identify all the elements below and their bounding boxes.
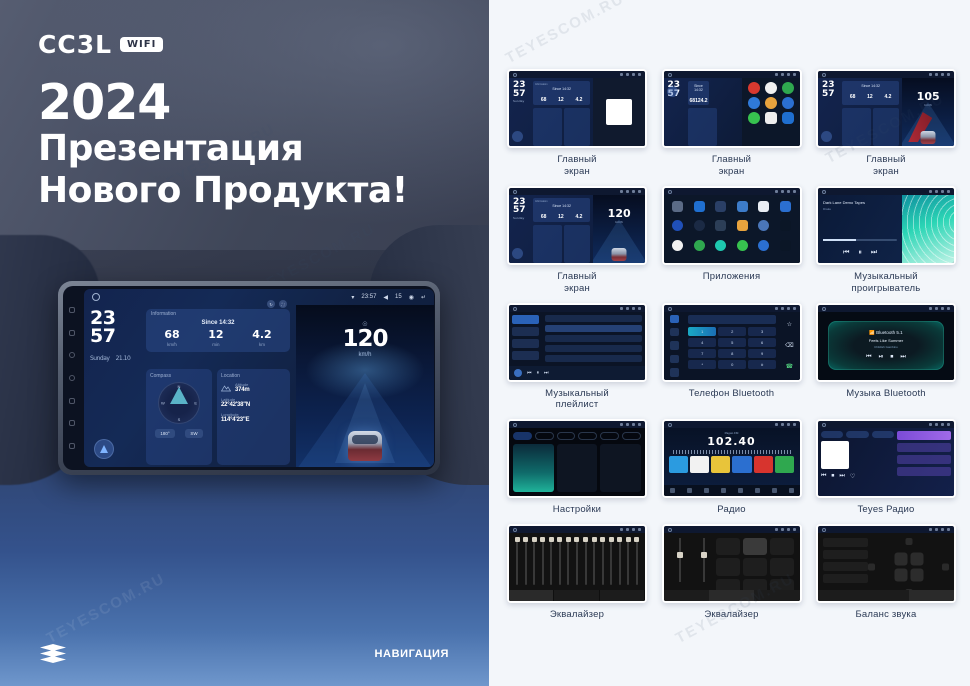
compass-needle-icon <box>170 387 188 404</box>
gallery-row: Настройки Радио FM 102.40 <box>503 419 960 516</box>
thumb-info-since: Since 14:32 <box>690 84 708 92</box>
speed-value: 120 <box>296 328 434 351</box>
thumb-clock-minutes: 57 <box>822 89 835 99</box>
playlist-mini-player[interactable]: ⏮ ⏸ ⏭ <box>509 366 645 380</box>
radio-presets[interactable] <box>667 456 797 473</box>
preset-buttons[interactable] <box>716 538 794 596</box>
app-icon-play-store[interactable] <box>737 240 748 251</box>
location-title: Location <box>221 373 286 379</box>
headline-line-2: Нового Продукта! <box>38 170 408 212</box>
call-icon[interactable]: ☎ <box>786 363 793 370</box>
gallery-item[interactable]: 1 2 3 4 5 6 7 8 9 * <box>658 303 806 412</box>
radio-frequency: 102.40 <box>667 435 797 448</box>
gear-icon[interactable]: ◉ <box>409 294 414 301</box>
stat-value: 68 <box>164 329 179 340</box>
radio-dial[interactable] <box>673 450 791 454</box>
stop-icon[interactable]: ⏹ <box>890 354 893 361</box>
compass-south: S <box>178 417 181 422</box>
app-icon-camera[interactable] <box>758 201 769 212</box>
compass-dial: N E S W <box>158 382 200 424</box>
dial-key[interactable]: 8 <box>718 349 746 358</box>
radio-toolbar[interactable] <box>664 485 800 496</box>
thumb-stat: 4.2 <box>575 97 582 103</box>
next-icon[interactable]: ⏭ <box>871 249 877 257</box>
phone-nav[interactable] <box>664 312 686 380</box>
gallery-caption: Музыкальный <box>854 271 918 282</box>
app-icon-google[interactable] <box>672 240 683 251</box>
navigation-fab-button[interactable] <box>94 439 114 459</box>
headline: 2024 Презентация Нового Продукта! <box>38 78 408 211</box>
gallery-item[interactable]: Эквалайзер <box>503 524 651 621</box>
information-stats: 68 km/h 12 min 4.2 km <box>150 329 286 347</box>
gallery-caption: Музыкальный <box>545 388 609 399</box>
stat-unit: km <box>252 342 272 347</box>
album-art <box>514 369 522 377</box>
app-icon-browser[interactable] <box>765 82 777 94</box>
power-icon[interactable] <box>69 352 75 358</box>
thumb-clock-minutes: 57 <box>513 205 526 215</box>
volume-down-icon[interactable] <box>69 420 75 426</box>
album-visualizer <box>902 195 954 263</box>
volume-icon: ◀ <box>383 294 388 301</box>
hero-panel: TEYESCOM.RU TEYESCOM.RU TEYESCOM.RU CC3L… <box>0 0 489 686</box>
driving-view-widget[interactable]: ☉ 120 km/h <box>296 305 434 467</box>
app-icon-folder[interactable] <box>737 220 748 231</box>
status-time: 23:57 <box>361 294 376 300</box>
gallery-item[interactable]: Приложения <box>658 186 806 295</box>
head-unit-screen[interactable]: ▾ 23:57 ◀ 15 ◉ ↵ 23 57 Sunday 21.10 I <box>84 289 434 467</box>
track-title: Dark Lane Demo Tapes <box>823 200 897 205</box>
wifi-badge: WIFI <box>120 37 163 52</box>
preset-5[interactable] <box>754 456 773 473</box>
compass-north: N <box>178 384 181 389</box>
traffic-card[interactable] <box>557 444 598 492</box>
gallery-item[interactable]: 2357Sunday InformationSince 14:3268124.2… <box>503 186 651 295</box>
gallery-item[interactable]: ⏮ ⏹ ⏭ ♡ Teyes Радио <box>812 419 960 516</box>
gallery-caption: Приложения <box>703 271 761 282</box>
playback-controls[interactable]: ⏮ ⏸ ⏭ <box>818 249 902 257</box>
expand-icon[interactable]: ⛶ <box>279 300 287 308</box>
previous-icon[interactable]: ⏮ <box>527 370 532 376</box>
thumb-info-since: Since 14:32 <box>535 204 588 208</box>
dial-key[interactable]: 2 <box>718 327 746 336</box>
gallery-caption: Настройки <box>553 504 601 515</box>
gallery-caption-2: экран <box>719 166 745 177</box>
gallery-item[interactable]: Эквалайзер <box>658 524 806 621</box>
pause-icon[interactable]: ⏸ <box>537 370 540 376</box>
gallery-caption: Эквалайзер <box>704 609 758 620</box>
thumb-speed-value: 120 <box>608 207 631 220</box>
thumb-info-since: Since 14:32 <box>535 87 588 91</box>
dial-key[interactable]: 5 <box>718 338 746 347</box>
stat-unit: km/h <box>164 342 179 347</box>
gallery-caption-2: экран <box>873 166 899 177</box>
gallery-row: ⏮ ⏸ ⏭ Музыкальныйплейлист <box>503 303 960 412</box>
gallery-caption: Баланс звука <box>856 609 917 620</box>
thumbnail-equalizer-presets[interactable] <box>662 524 802 603</box>
thumbnail-radio[interactable]: Радио FM 102.40 <box>662 419 802 498</box>
next-icon[interactable]: ⏭ <box>900 354 905 361</box>
preset-2[interactable] <box>690 456 709 473</box>
gallery-caption: Главный <box>557 271 596 282</box>
thumb-stat: 68 <box>541 97 547 103</box>
fader-sliders[interactable] <box>669 538 717 596</box>
app-icon-chrome[interactable] <box>672 220 683 231</box>
back-arrow-icon[interactable]: ↵ <box>421 294 426 301</box>
compass-direction: SW <box>185 429 202 438</box>
stop-icon[interactable]: ⏹ <box>831 473 834 480</box>
app-icon-clock[interactable] <box>694 220 705 231</box>
dial-key[interactable]: 4 <box>688 338 716 347</box>
speed-unit: km/h <box>296 352 434 358</box>
thumb-stat: 68 <box>850 94 856 100</box>
gallery-caption: Радио <box>717 504 745 515</box>
location-widget[interactable]: Location Altitude 374m Latitude <box>217 369 290 465</box>
location-latitude-row: Latitude 22°42'38"N <box>221 397 286 408</box>
preset-1[interactable] <box>669 456 688 473</box>
mountain-icon <box>221 384 231 392</box>
dial-key[interactable]: 9 <box>748 349 776 358</box>
stat-value: 4.2 <box>252 329 272 340</box>
app-icon-music[interactable] <box>715 201 726 212</box>
gallery-item[interactable]: 2357Sunday InformationSince 14:3268124.2… <box>503 69 651 178</box>
balance-presets[interactable] <box>823 538 868 596</box>
stat-distance: 4.2 km <box>252 329 272 347</box>
clock-date: 21.10 <box>116 355 131 362</box>
gallery-row: 2357Sunday InformationSince 14:3268124.2… <box>503 69 960 178</box>
app-icon-files[interactable] <box>672 201 683 212</box>
previous-icon[interactable]: ⏮ <box>821 473 826 480</box>
layers-icon <box>40 644 66 664</box>
car-avatar-icon <box>612 248 627 261</box>
thumb-stat: 68 <box>541 214 547 220</box>
home-icon[interactable] <box>69 375 75 381</box>
thumb-clock-minutes: 57 <box>513 89 526 99</box>
gallery-item[interactable]: Баланс звука <box>812 524 960 621</box>
location-altitude-row: Altitude 374m <box>221 382 286 393</box>
pause-icon[interactable]: ⏸ <box>858 249 862 257</box>
status-bar: ▾ 23:57 ◀ 15 ◉ ↵ <box>343 289 434 305</box>
watermark: TEYESCOM.RU <box>503 0 628 67</box>
dial-input[interactable] <box>688 315 776 324</box>
thumb-stat: 12 <box>558 214 564 220</box>
hero-footer: НАВИГАЦИЯ <box>0 622 489 686</box>
location-latitude-value: 22°42'38"N <box>221 402 286 408</box>
information-since: Since 14:32 <box>150 320 286 326</box>
dial-key[interactable]: 3 <box>748 327 776 336</box>
location-longitude-value: 114°4'23"E <box>221 417 286 423</box>
thumbnail-apps[interactable] <box>662 186 802 265</box>
thumbnail-home-drive[interactable]: 2357 Since 14:3268124.2 105km/h <box>816 69 956 148</box>
equalizer-tabs[interactable] <box>664 590 800 601</box>
settings-cards[interactable] <box>513 444 641 492</box>
thumbnail-home-apps[interactable]: 2357 Since 14:3268124.2 <box>662 69 802 148</box>
previous-icon[interactable]: ⏮ <box>843 249 849 257</box>
speed-readout: ☉ 120 km/h <box>296 321 434 358</box>
track-artist: Drake <box>823 207 897 211</box>
gallery-caption: Телефон Bluetooth <box>689 388 775 399</box>
location-altitude-value: 374m <box>235 387 250 393</box>
information-title: Information <box>151 311 286 317</box>
bluetooth-icon: 📶 <box>869 330 875 335</box>
preset-6[interactable] <box>775 456 794 473</box>
app-icon-contacts[interactable] <box>780 201 791 212</box>
thumb-stat: 4.2 <box>884 94 891 100</box>
playback-controls[interactable]: ⏮ ⏯ ⏹ ⏭ <box>866 354 906 361</box>
thumbnail-home-speed[interactable]: 2357Sunday InformationSince 14:3268124.2… <box>507 186 647 265</box>
app-icon-back[interactable] <box>780 220 791 231</box>
app-icon-calculator[interactable] <box>737 201 748 212</box>
seat-grid[interactable] <box>894 553 923 582</box>
gallery-caption-2: плейлист <box>556 399 599 410</box>
play-pause-icon[interactable]: ⏯ <box>879 354 884 361</box>
app-icon-play[interactable] <box>748 112 760 124</box>
thumbnail-playlist[interactable]: ⏮ ⏸ ⏭ <box>507 303 647 382</box>
balance-tabs[interactable] <box>818 590 954 601</box>
thumbnail-teyes-radio[interactable]: ⏮ ⏹ ⏭ ♡ <box>816 419 956 498</box>
phone-actions[interactable]: ☆ ⌫ ☎ <box>779 312 799 380</box>
heart-icon[interactable]: ♡ <box>850 473 855 480</box>
bluetooth-version: 📶 Bluetooth 5.1 <box>869 330 902 336</box>
app-icon-mail[interactable] <box>782 97 794 109</box>
thumbnail-settings[interactable] <box>507 419 647 498</box>
progress-bar[interactable] <box>823 239 897 241</box>
dial-key[interactable]: * <box>688 360 716 369</box>
information-actions[interactable]: ↻ ⛶ <box>267 300 287 308</box>
compass-east: E <box>194 401 197 406</box>
compass-west: W <box>161 401 165 406</box>
track-artist: Childish Gambino <box>874 345 898 349</box>
car-avatar-icon <box>348 431 382 461</box>
brand-logo: CC3L WIFI <box>38 30 163 59</box>
playback-controls[interactable]: ⏮ ⏹ ⏭ ♡ <box>821 473 894 480</box>
dial-key[interactable]: 7 <box>688 349 716 358</box>
compass-widget[interactable]: Compass N E S W 180° SW <box>146 369 212 465</box>
app-icon-maps[interactable] <box>782 82 794 94</box>
app-icon-maps[interactable] <box>694 240 705 251</box>
gallery-caption: Главный <box>866 154 905 165</box>
arrow-left-icon[interactable] <box>868 564 875 571</box>
clock-weekday: Sunday <box>90 355 109 362</box>
thumb-stat: 4.2 <box>701 98 708 104</box>
app-icon-more[interactable] <box>782 112 794 124</box>
gallery-item[interactable]: Радио FM 102.40 <box>658 419 806 516</box>
album-art <box>606 99 632 125</box>
wifi-icon: ▾ <box>351 294 354 301</box>
thumb-speed-value: 105 <box>917 90 940 103</box>
next-icon[interactable]: ⏭ <box>544 370 549 376</box>
gallery-caption: Музыка Bluetooth <box>846 388 926 399</box>
presentation-page: TEYESCOM.RU TEYESCOM.RU TEYESCOM.RU CC3L… <box>0 0 970 686</box>
home-icon[interactable] <box>92 293 100 301</box>
stat-speed: 68 km/h <box>164 329 179 347</box>
balance-pad[interactable] <box>868 538 949 596</box>
app-icon-files[interactable] <box>748 97 760 109</box>
information-widget[interactable]: Information ↻ ⛶ Since 14:32 68 km/h <box>146 309 290 352</box>
wifi-card[interactable] <box>513 444 554 492</box>
refresh-icon[interactable]: ↻ <box>267 300 275 308</box>
dial-key[interactable]: 0 <box>718 360 746 369</box>
app-icon-youtube[interactable] <box>748 82 760 94</box>
brand-name: CC3L <box>38 30 112 59</box>
navigation-label: НАВИГАЦИЯ <box>375 648 449 660</box>
head-unit-side-buttons[interactable] <box>62 287 82 469</box>
gallery-caption: Главный <box>557 154 596 165</box>
gallery-caption: Teyes Радио <box>857 504 914 515</box>
gallery-item[interactable]: Dark Lane Demo Tapes Drake ⏮ ⏸ ⏭ <box>812 186 960 295</box>
status-volume: 15 <box>395 294 402 300</box>
preset-4[interactable] <box>732 456 751 473</box>
car-avatar-icon <box>921 131 936 144</box>
app-icon-radio[interactable] <box>758 240 769 251</box>
arrow-right-icon[interactable] <box>942 564 949 571</box>
preset-3[interactable] <box>711 456 730 473</box>
gallery-row: Эквалайзер Эквалайзер <box>503 524 960 621</box>
gallery-caption: Главный <box>712 154 751 165</box>
dialpad[interactable]: 1 2 3 4 5 6 7 8 9 * <box>688 327 776 369</box>
thumbnail-equalizer-sliders[interactable] <box>507 524 647 603</box>
headline-line-1: Презентация <box>38 128 408 170</box>
gallery-caption-2: проигрыватель <box>852 283 921 294</box>
dial-key[interactable]: 6 <box>748 338 776 347</box>
app-icon-grid[interactable] <box>765 112 777 124</box>
gallery-caption-2: экран <box>564 283 590 294</box>
thumb-stat: 12 <box>867 94 873 100</box>
gallery-item[interactable]: ⏮ ⏸ ⏭ Музыкальныйплейлист <box>503 303 651 412</box>
gallery-item[interactable]: 2357 Since 14:3268124.2 <box>658 69 806 178</box>
thumb-info-since: Since 14:32 <box>844 84 897 88</box>
thumbnail-bluetooth-phone[interactable]: 1 2 3 4 5 6 7 8 9 * <box>662 303 802 382</box>
teyes-station-list[interactable] <box>894 431 951 493</box>
dial-key[interactable]: # <box>748 360 776 369</box>
previous-icon[interactable]: ⏮ <box>866 354 871 361</box>
equalizer-tabs[interactable] <box>509 590 645 601</box>
app-icon-gallery[interactable] <box>758 220 769 231</box>
app-icon-spacer <box>780 240 791 251</box>
back-arrow-icon[interactable] <box>69 398 75 404</box>
thumb-stat: 12 <box>558 97 564 103</box>
stat-duration: 12 min <box>208 329 223 347</box>
compass-title: Compass <box>150 373 208 379</box>
album-art <box>821 441 849 469</box>
thumb-info-title: Information <box>535 83 588 86</box>
stat-value: 12 <box>208 329 223 340</box>
compass-readout: 180° SW <box>150 429 208 438</box>
gallery-item[interactable]: 2357 Since 14:3268124.2 105km/h <box>812 69 960 178</box>
screenshot-gallery-panel: TEYESCOM.RU TEYESCOM.RU TEYESCOM.RU 2357… <box>489 0 970 686</box>
settings-tabs[interactable] <box>513 432 641 440</box>
compass-heading: 180° <box>155 429 174 438</box>
volume-up-icon[interactable] <box>69 443 75 449</box>
thumbnail-sound-balance[interactable] <box>816 524 956 603</box>
gallery-caption: Эквалайзер <box>550 609 604 620</box>
stat-unit: min <box>208 342 223 347</box>
more-card[interactable] <box>600 444 641 492</box>
home-left-column: 23 57 Sunday 21.10 Information ↻ ⛶ Since… <box>84 305 296 467</box>
thumb-speed-unit: km/h <box>593 220 645 224</box>
app-icon-usb[interactable] <box>715 220 726 231</box>
gallery-row: 2357Sunday InformationSince 14:3268124.2… <box>503 186 960 295</box>
thumb-speed-unit: km/h <box>902 103 954 107</box>
app-icon-gallery[interactable] <box>765 97 777 109</box>
dial-key[interactable]: 1 <box>688 327 716 336</box>
star-icon[interactable]: ☆ <box>787 321 792 328</box>
thumbnail-bluetooth-music[interactable]: 📶 Bluetooth 5.1 Feels Like Summer Childi… <box>816 303 956 382</box>
headline-year: 2024 <box>38 78 408 128</box>
button-icon-plus[interactable] <box>69 330 75 336</box>
thumb-info-title: Information <box>535 200 588 203</box>
gallery-item[interactable]: 📶 Bluetooth 5.1 Feels Like Summer Childi… <box>812 303 960 412</box>
teyes-tabs[interactable] <box>821 431 894 438</box>
backspace-icon[interactable]: ⌫ <box>785 342 793 349</box>
car-dashboard-photo: ▾ 23:57 ◀ 15 ◉ ↵ 23 57 Sunday 21.10 I <box>0 215 489 515</box>
thumb-stat: 4.2 <box>575 214 582 220</box>
gallery-item[interactable]: Настройки <box>503 419 651 516</box>
next-icon[interactable]: ⏭ <box>839 473 844 480</box>
thumbnail-home-music[interactable]: 2357Sunday InformationSince 14:3268124.2 <box>507 69 647 148</box>
gallery-grid: 2357Sunday InformationSince 14:3268124.2… <box>503 69 960 621</box>
gallery-caption-2: экран <box>564 166 590 177</box>
nav-fab-icon <box>512 131 523 142</box>
app-icon-music-player[interactable] <box>715 240 726 251</box>
thumbnail-music-player[interactable]: Dark Lane Demo Tapes Drake ⏮ ⏸ ⏭ <box>816 186 956 265</box>
location-longitude-row: Longitude 114°4'23"E <box>221 412 286 423</box>
button-icon-minus[interactable] <box>69 307 75 313</box>
track-title: Feels Like Summer <box>869 338 903 343</box>
app-icon-bluetooth[interactable] <box>694 201 705 212</box>
arrow-up-icon[interactable] <box>905 538 912 545</box>
equalizer-sliders[interactable] <box>513 537 641 585</box>
